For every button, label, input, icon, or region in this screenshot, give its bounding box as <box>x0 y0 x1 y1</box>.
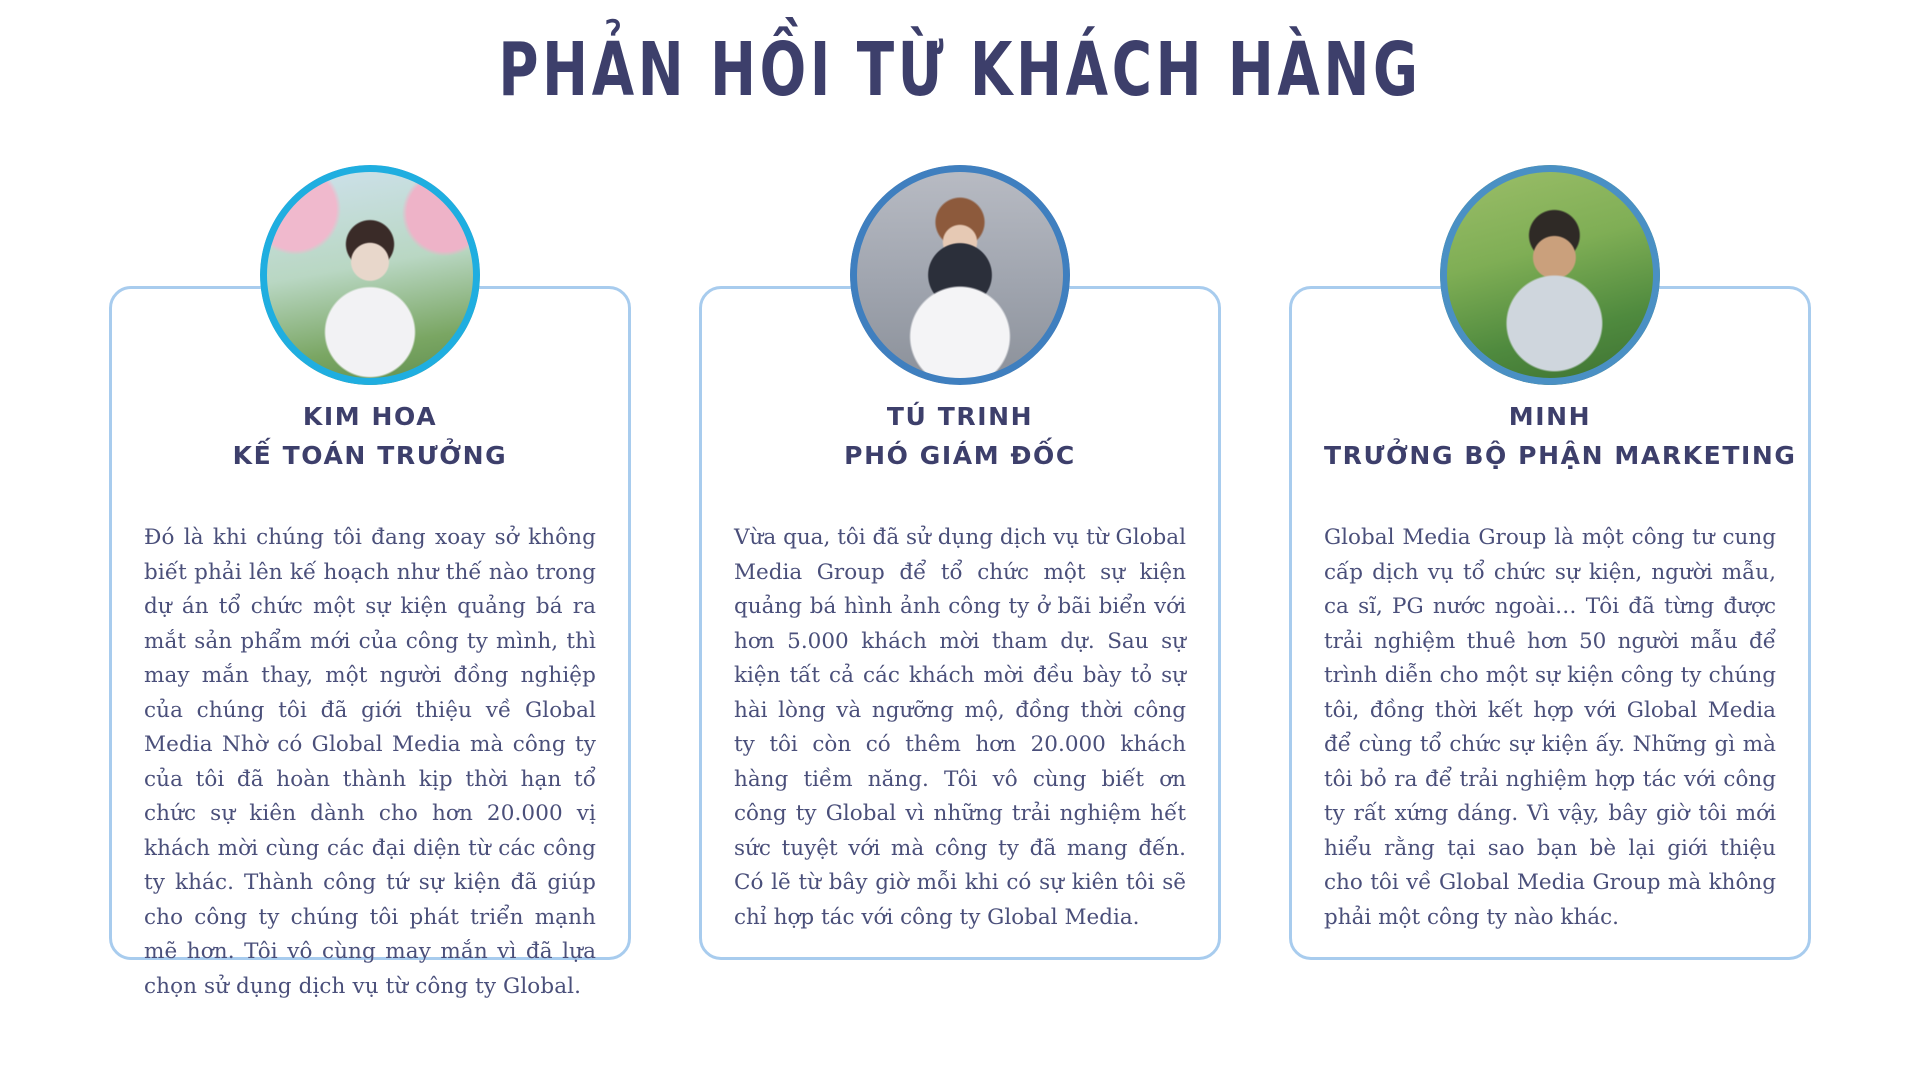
testimonial-quote: Global Media Group là một công tư cung c… <box>1324 521 1776 935</box>
person-role: PHÓ GIÁM ĐỐC <box>734 436 1186 475</box>
testimonial-card: MINH TRƯỞNG BỘ PHẬN MARKETING Global Med… <box>1289 286 1811 960</box>
person-role: KẾ TOÁN TRƯỞNG <box>144 436 596 475</box>
avatar-photo-kim-hoa <box>260 165 480 385</box>
avatar-photo-minh <box>1440 165 1660 385</box>
avatar <box>260 165 480 385</box>
testimonial-quote: Vừa qua, tôi đã sử dụng dịch vụ từ Globa… <box>734 521 1186 935</box>
testimonial-card: TÚ TRINH PHÓ GIÁM ĐỐC Vừa qua, tôi đã sử… <box>699 286 1221 960</box>
testimonial-quote: Đó là khi chúng tôi đang xoay sở không b… <box>144 521 596 1004</box>
testimonials-page: PHẢN HỒI TỪ KHÁCH HÀNG KIM HOA KẾ TOÁN T… <box>0 0 1920 1080</box>
avatar <box>1440 165 1660 385</box>
person-name: TÚ TRINH <box>734 397 1186 436</box>
person-header: KIM HOA KẾ TOÁN TRƯỞNG <box>144 397 596 475</box>
testimonial-card-list: KIM HOA KẾ TOÁN TRƯỞNG Đó là khi chúng t… <box>0 286 1920 960</box>
person-role: TRƯỞNG BỘ PHẬN MARKETING <box>1324 436 1776 475</box>
avatar <box>850 165 1070 385</box>
page-title: PHẢN HỒI TỪ KHÁCH HÀNG <box>250 22 1671 118</box>
avatar-photo-tu-trinh <box>850 165 1070 385</box>
testimonial-card: KIM HOA KẾ TOÁN TRƯỞNG Đó là khi chúng t… <box>109 286 631 960</box>
person-name: KIM HOA <box>144 397 596 436</box>
person-header: TÚ TRINH PHÓ GIÁM ĐỐC <box>734 397 1186 475</box>
person-header: MINH TRƯỞNG BỘ PHẬN MARKETING <box>1324 397 1776 475</box>
person-name: MINH <box>1324 397 1776 436</box>
